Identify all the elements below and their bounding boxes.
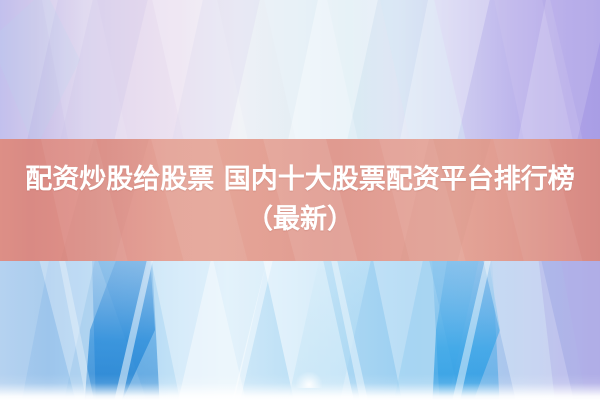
top-chevrons <box>0 0 600 150</box>
banner-title: 配资炒股给股票 国内十大股票配资平台排行榜（最新） <box>6 160 594 240</box>
bottom-highlight-spark <box>296 372 322 388</box>
title-band: 配资炒股给股票 国内十大股票配资平台排行榜（最新） <box>0 139 600 261</box>
banner-image: 配资炒股给股票 国内十大股票配资平台排行榜（最新） <box>0 0 600 400</box>
